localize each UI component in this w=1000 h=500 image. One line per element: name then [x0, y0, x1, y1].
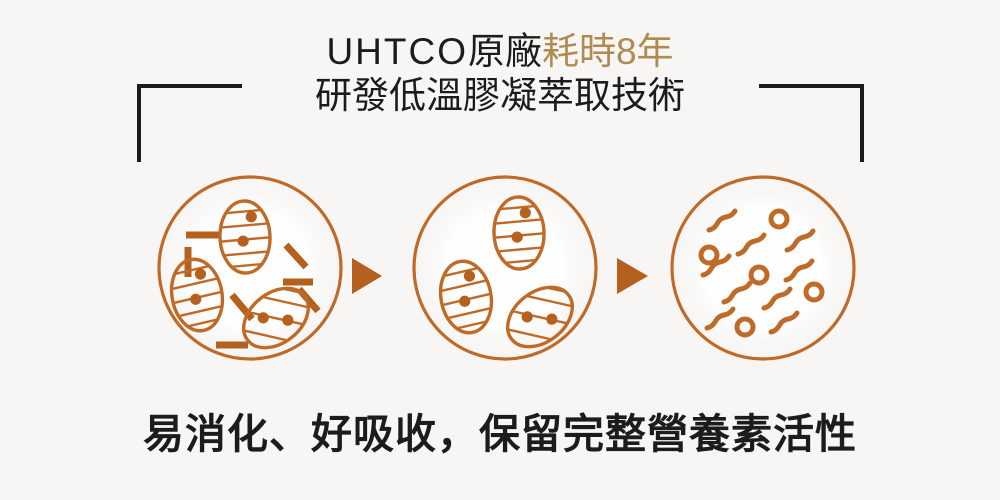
process-diagram [0, 175, 1000, 365]
headline-block: UHTCO原廠耗時8年 研發低溫膠凝萃取技術 [0, 30, 1000, 117]
headline-line-2: 研發低溫膠凝萃取技術 [0, 74, 1000, 118]
process-arrow-1 [352, 258, 382, 294]
infographic-canvas: UHTCO原廠耗時8年 研發低溫膠凝萃取技術 [0, 0, 1000, 500]
headline-line-1-highlight: 耗時8年 [542, 31, 674, 72]
headline-line-1: UHTCO原廠耗時8年 [0, 30, 1000, 74]
headline-brand-name: UHTCO [326, 31, 468, 72]
process-step-1 [156, 175, 344, 365]
tagline: 易消化、好吸收，保留完整營養素活性 [0, 400, 1000, 460]
headline-line-1-ink: 原廠 [468, 31, 542, 72]
process-arrow-2 [617, 258, 648, 294]
process-step-3 [669, 175, 857, 362]
process-diagram-svg [0, 175, 1000, 365]
process-step-2 [411, 175, 608, 365]
